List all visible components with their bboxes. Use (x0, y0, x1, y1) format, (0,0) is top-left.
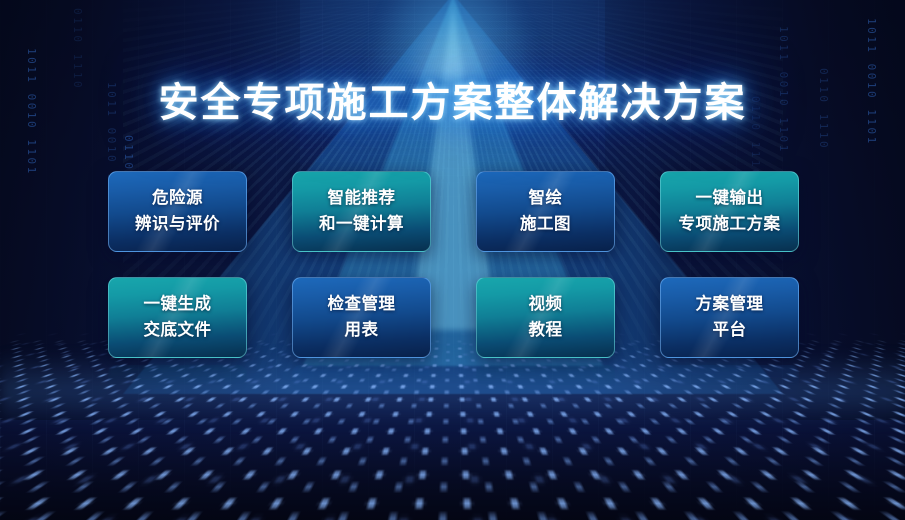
card-line-2: 教程 (529, 318, 563, 344)
feature-card-one-click-output[interactable]: 一键输出 专项施工方案 (660, 171, 799, 252)
bottom-fade-overlay (0, 430, 905, 520)
card-line-1: 智绘 (529, 186, 563, 212)
page-title: 安全专项施工方案整体解决方案 (0, 70, 905, 128)
card-line-2: 用表 (345, 318, 379, 344)
card-line-2: 平台 (713, 318, 747, 344)
presentation-slide: 1011 0010 1101 0110 1110 0110 1110 1011 … (0, 0, 905, 520)
card-line-1: 方案管理 (696, 292, 764, 318)
feature-card-smart-drawing[interactable]: 智绘 施工图 (476, 171, 615, 252)
card-line-2: 专项施工方案 (679, 212, 781, 238)
card-line-1: 一键输出 (696, 186, 764, 212)
card-line-2: 施工图 (520, 212, 571, 238)
feature-card-grid: 危险源 辨识与评价 智能推荐 和一键计算 智绘 施工图 一键输出 专项施工方案 … (108, 171, 800, 358)
card-line-2: 交底文件 (144, 318, 212, 344)
card-line-2: 和一键计算 (319, 212, 404, 238)
card-line-2: 辨识与评价 (135, 212, 220, 238)
beam-apex-glow (368, 0, 538, 80)
feature-card-generate-disclosure[interactable]: 一键生成 交底文件 (108, 277, 247, 358)
card-line-1: 危险源 (152, 186, 203, 212)
card-line-1: 一键生成 (144, 292, 212, 318)
feature-card-hazard-identification[interactable]: 危险源 辨识与评价 (108, 171, 247, 252)
card-line-1: 检查管理 (328, 292, 396, 318)
feature-card-plan-platform[interactable]: 方案管理 平台 (660, 277, 799, 358)
card-line-1: 视频 (529, 292, 563, 318)
feature-card-inspection-forms[interactable]: 检查管理 用表 (292, 277, 431, 358)
card-line-1: 智能推荐 (328, 186, 396, 212)
feature-card-smart-recommendation[interactable]: 智能推荐 和一键计算 (292, 171, 431, 252)
feature-card-video-tutorial[interactable]: 视频 教程 (476, 277, 615, 358)
floor-horizon-glow (0, 352, 905, 422)
